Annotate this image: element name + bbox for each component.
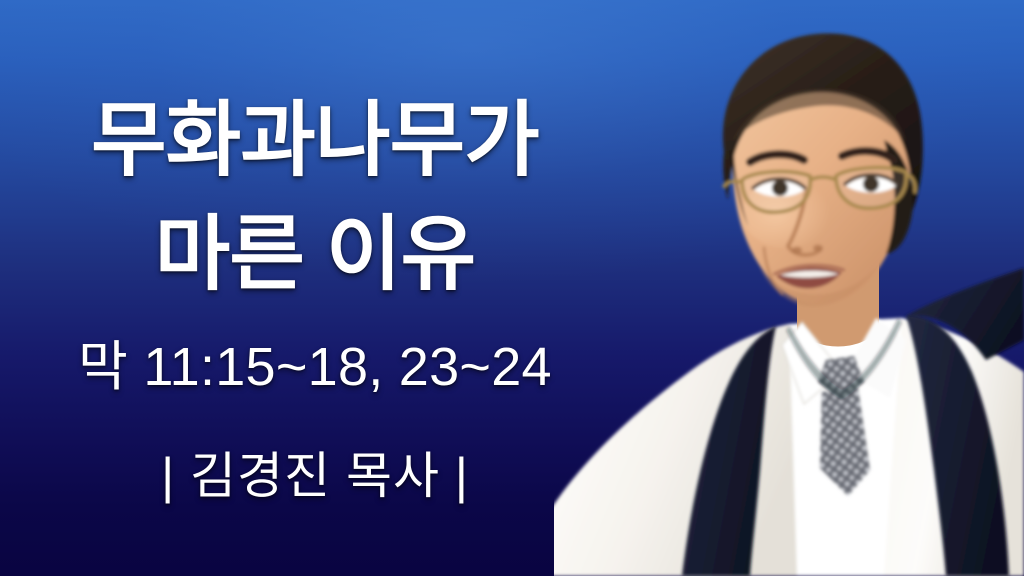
sermon-title-line-2: 마른 이유 bbox=[0, 212, 630, 298]
sermon-text-block: 무화과나무가 마른 이유 막 11:15~18, 23~24 | 김경진 목사 … bbox=[0, 0, 660, 576]
scripture-reference: 막 11:15~18, 23~24 bbox=[0, 336, 630, 398]
sermon-thumbnail: 무화과나무가 마른 이유 막 11:15~18, 23~24 | 김경진 목사 … bbox=[0, 0, 1024, 576]
speaker-name: | 김경진 목사 | bbox=[0, 448, 630, 506]
sermon-title-line-1: 무화과나무가 bbox=[0, 98, 630, 184]
pastor-head bbox=[723, 33, 923, 306]
